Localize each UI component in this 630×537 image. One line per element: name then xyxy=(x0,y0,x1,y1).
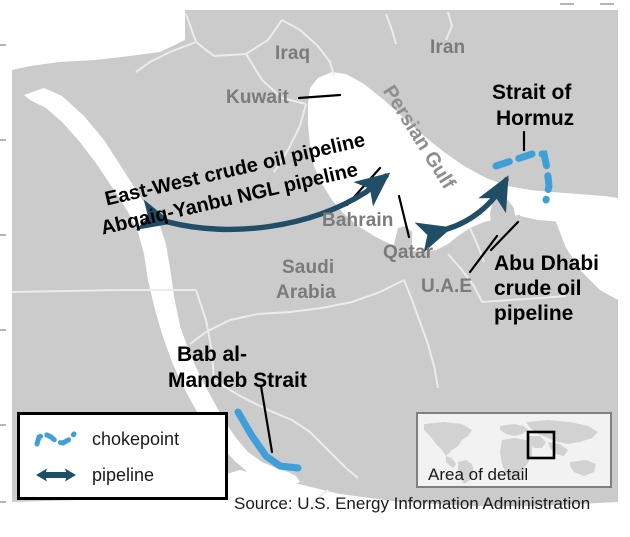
chokepoint-icon xyxy=(20,428,92,450)
legend-label-pipeline: pipeline xyxy=(92,465,154,486)
legend-label-chokepoint: chokepoint xyxy=(92,429,179,450)
source-attribution: Source: U.S. Energy Information Administ… xyxy=(234,494,590,514)
inset-locator-map: Area of detail xyxy=(416,412,612,488)
legend-item-chokepoint: chokepoint xyxy=(20,421,225,457)
map-figure: Iraq Iran Kuwait Bahrain Qatar U.A.E Sau… xyxy=(0,0,630,537)
inset-caption: Area of detail xyxy=(428,465,528,485)
pipeline-icon xyxy=(20,464,92,486)
legend-item-pipeline: pipeline xyxy=(20,457,225,493)
map-legend: chokepoint pipeline xyxy=(17,412,228,500)
